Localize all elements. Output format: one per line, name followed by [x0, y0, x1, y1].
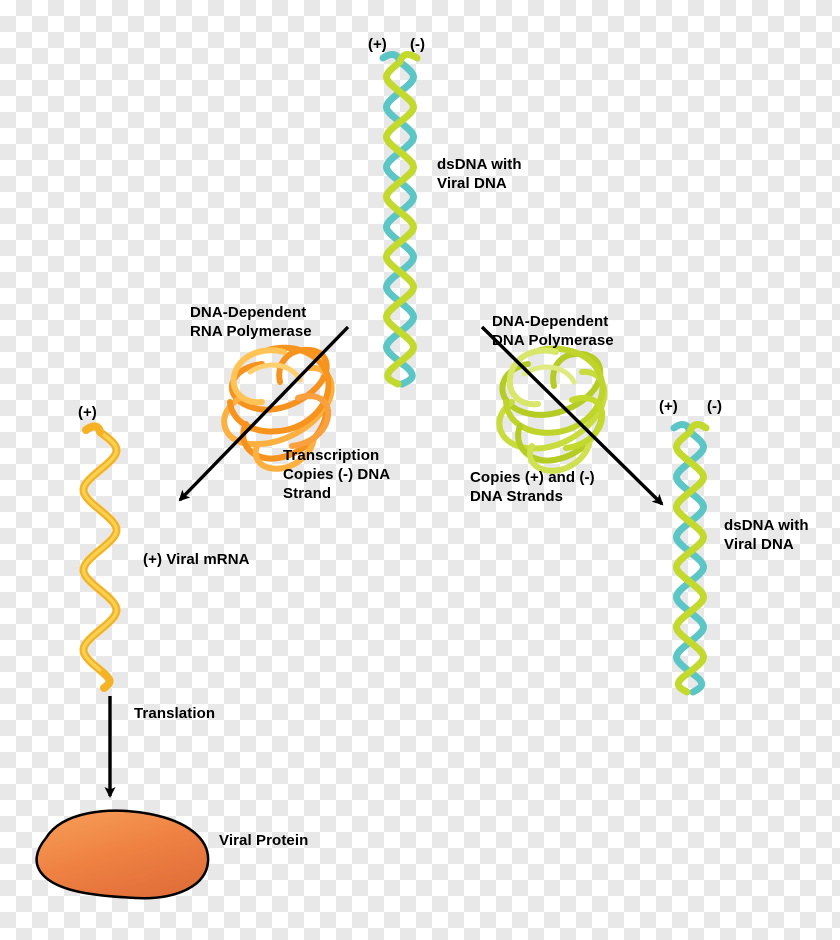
dsdna-right-helix [674, 425, 706, 692]
diagram-canvas: (+) (-) dsDNA with Viral DNA DNA-Depende… [0, 0, 840, 940]
viral-mrna-strand [84, 426, 117, 688]
sign-mrna-plus: (+) [78, 404, 97, 421]
label-dsdna-right: dsDNA with Viral DNA [724, 516, 809, 554]
sign-right-minus: (-) [707, 398, 722, 415]
label-dsdna-top: dsDNA with Viral DNA [437, 155, 522, 193]
label-transcription-note: Transcription Copies (-) DNA Strand [283, 446, 390, 503]
label-viral-protein: Viral Protein [219, 831, 308, 850]
viral-protein-shape [37, 811, 209, 898]
label-copies-note: Copies (+) and (-) DNA Strands [470, 468, 595, 506]
sign-top-minus: (-) [410, 36, 425, 53]
dsdna-top-helix [383, 55, 417, 384]
label-dna-dependent-rna-polymerase: DNA-Dependent RNA Polymerase [190, 303, 312, 341]
sign-top-plus: (+) [368, 36, 387, 53]
diagram-graphics [0, 0, 840, 940]
dna-polymerase-enzyme [499, 349, 604, 471]
label-viral-mrna: (+) Viral mRNA [143, 550, 250, 569]
label-dna-dependent-dna-polymerase: DNA-Dependent DNA Polymerase [492, 312, 614, 350]
sign-right-plus: (+) [659, 398, 678, 415]
label-translation: Translation [134, 704, 215, 723]
